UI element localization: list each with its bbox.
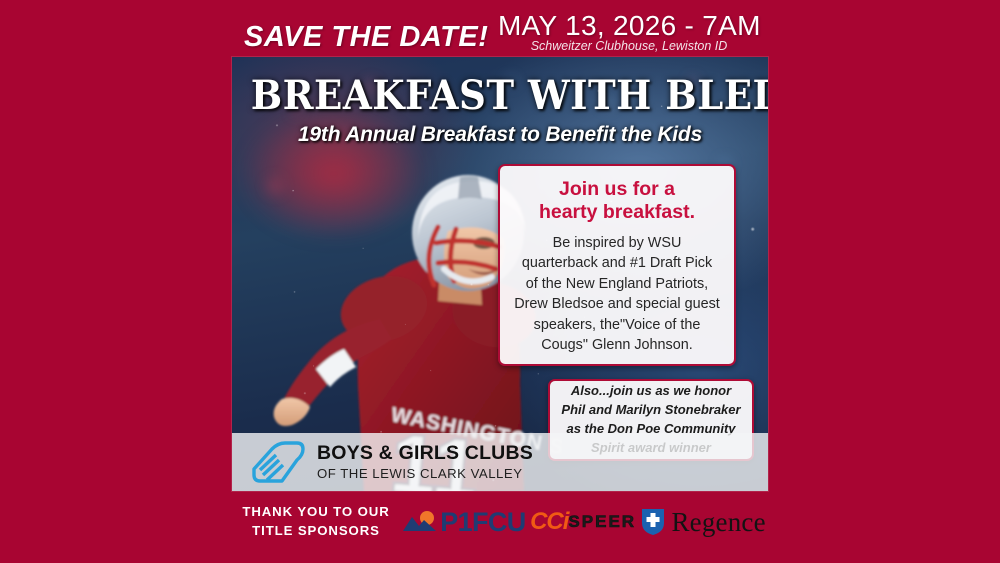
event-date-block: MAY 13, 2026 - 7AM Schweitzer Clubhouse,…: [498, 10, 760, 53]
mountain-sun-icon: [402, 509, 438, 535]
sponsor-speer-label: SPEER: [568, 513, 636, 530]
event-venue: Schweitzer Clubhouse, Lewiston ID: [498, 39, 760, 53]
sponsor-cci-speer[interactable]: CCi SPEER: [530, 510, 636, 534]
join-us-title-line2: hearty breakfast.: [514, 201, 720, 224]
thanks-line1: THANK YOU TO OUR: [232, 503, 400, 522]
sponsor-row: THANK YOU TO OUR TITLE SPONSORS P1FCU CC…: [232, 497, 768, 547]
sponsor-regence-label: Regence: [671, 507, 765, 538]
sponsor-logos: P1FCU CCi SPEER Regence: [400, 507, 768, 538]
join-us-title-line1: Join us for a: [514, 178, 720, 201]
boys-girls-clubs-bar: BOYS & GIRLS CLUBS OF THE LEWIS CLARK VA…: [232, 433, 768, 491]
event-date: MAY 13, 2026 - 7AM: [498, 10, 760, 42]
sponsor-p1fcu-label: P1FCU: [440, 507, 526, 538]
join-us-body: Be inspired by WSU quarterback and #1 Dr…: [514, 233, 720, 356]
save-the-date-label: SAVE THE DATE!: [244, 21, 488, 54]
event-poster: WASHINGTON STATE 11 BREAKFAST WITH BLEDS…: [232, 57, 768, 491]
blue-cross-shield-icon: [640, 507, 666, 537]
poster-headline: BREAKFAST WITH BLEDSOE: [251, 76, 749, 116]
sponsor-regence[interactable]: Regence: [640, 507, 765, 538]
thank-you-sponsors-label: THANK YOU TO OUR TITLE SPONSORS: [232, 503, 400, 540]
thanks-line2: TITLE SPONSORS: [232, 522, 400, 541]
bgc-swoosh-icon: [246, 439, 308, 485]
join-us-title: Join us for a hearty breakfast.: [514, 178, 720, 224]
bgc-name-line1: BOYS & GIRLS CLUBS: [317, 444, 533, 464]
sponsor-p1fcu[interactable]: P1FCU: [402, 507, 526, 538]
poster-tagline: 19th Annual Breakfast to Benefit the Kid…: [232, 123, 768, 147]
sponsor-cci-label: CCi: [530, 510, 568, 534]
join-us-callout: Join us for a hearty breakfast. Be inspi…: [498, 164, 736, 366]
poster-canvas: SAVE THE DATE! MAY 13, 2026 - 7AM Schwei…: [0, 0, 1000, 563]
bgc-name-line2: OF THE LEWIS CLARK VALLEY: [317, 467, 533, 480]
bgc-name: BOYS & GIRLS CLUBS OF THE LEWIS CLARK VA…: [317, 444, 533, 480]
